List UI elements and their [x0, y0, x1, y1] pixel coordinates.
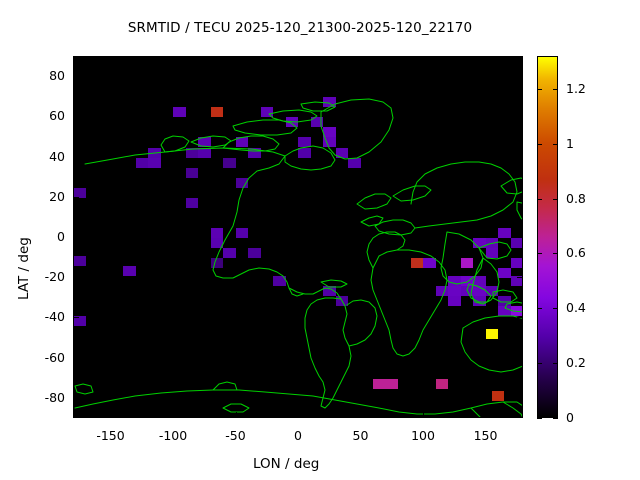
x-axis-tick-label: 0 [268, 428, 328, 443]
x-axis-tick-label: -50 [206, 428, 266, 443]
colorbar-tick [537, 253, 542, 254]
x-axis-tick [298, 56, 299, 62]
colorbar-tick [553, 253, 558, 254]
y-axis-tick [517, 197, 523, 198]
y-axis-tick [517, 317, 523, 318]
y-axis-tick [73, 277, 79, 278]
x-axis-tick [361, 56, 362, 62]
y-axis-tick [73, 76, 79, 77]
x-axis-tick [298, 412, 299, 418]
colorbar-tick [537, 199, 542, 200]
colorbar-tick [553, 89, 558, 90]
y-axis-tick [73, 398, 79, 399]
y-axis-tick-label: -20 [31, 269, 65, 284]
y-axis-tick [73, 157, 79, 158]
y-axis-tick-label: 20 [31, 189, 65, 204]
colorbar-tick-label: 0.8 [566, 191, 586, 206]
colorbar-tick [553, 308, 558, 309]
y-axis-tick [73, 197, 79, 198]
x-axis-tick [486, 412, 487, 418]
x-axis-tick [361, 412, 362, 418]
chart-title: SRMTID / TECU 2025-120_21300-2025-120_22… [0, 20, 600, 36]
y-axis-tick [517, 116, 523, 117]
colorbar-tick [553, 418, 558, 419]
coastlines [75, 99, 523, 418]
y-axis-tick-label: 0 [31, 229, 65, 244]
colorbar-tick [553, 199, 558, 200]
y-axis-tick-label: 80 [31, 68, 65, 83]
y-axis-tick-label: -60 [31, 350, 65, 365]
x-axis-label: LON / deg [253, 456, 319, 472]
y-axis-tick [73, 116, 79, 117]
x-axis-tick-label: -150 [81, 428, 141, 443]
x-axis-tick [423, 56, 424, 62]
coastline-overlay [73, 56, 523, 418]
x-axis-tick [486, 56, 487, 62]
colorbar-tick [553, 363, 558, 364]
y-axis-tick [517, 398, 523, 399]
colorbar-tick-label: 1.2 [566, 81, 586, 96]
x-axis-tick-label: 100 [393, 428, 453, 443]
y-axis-tick [73, 317, 79, 318]
colorbar-tick [537, 308, 542, 309]
colorbar-tick-label: 0 [566, 410, 574, 425]
y-axis-tick-label: 40 [31, 149, 65, 164]
y-axis-tick-label: -80 [31, 390, 65, 405]
colorbar-tick [553, 144, 558, 145]
map-plot-area [73, 56, 523, 418]
x-axis-tick [423, 412, 424, 418]
x-axis-tick [173, 412, 174, 418]
colorbar-tick-label: 1 [566, 136, 574, 151]
x-axis-tick-label: -100 [143, 428, 203, 443]
x-axis-tick [236, 412, 237, 418]
x-axis-tick-label: 150 [456, 428, 516, 443]
plot-canvas: SRMTID / TECU 2025-120_21300-2025-120_22… [0, 0, 640, 480]
x-axis-tick [173, 56, 174, 62]
x-axis-tick [111, 412, 112, 418]
y-axis-tick [517, 157, 523, 158]
x-axis-tick [236, 56, 237, 62]
y-axis-tick [517, 76, 523, 77]
y-axis-tick [517, 358, 523, 359]
y-axis-tick [73, 237, 79, 238]
y-axis-tick [517, 277, 523, 278]
y-axis-label: LAT / deg [16, 237, 32, 300]
colorbar-tick-label: 0.4 [566, 300, 586, 315]
colorbar-tick [537, 363, 542, 364]
x-axis-tick [111, 56, 112, 62]
y-axis-tick-label: -40 [31, 309, 65, 324]
y-axis-tick-label: 60 [31, 108, 65, 123]
colorbar-tick [537, 144, 542, 145]
colorbar-tick-label: 0.2 [566, 355, 586, 370]
x-axis-tick-label: 50 [331, 428, 391, 443]
colorbar-tick-label: 0.6 [566, 245, 586, 260]
colorbar-tick [537, 89, 542, 90]
y-axis-tick [517, 237, 523, 238]
colorbar-tick [537, 418, 542, 419]
y-axis-tick [73, 358, 79, 359]
